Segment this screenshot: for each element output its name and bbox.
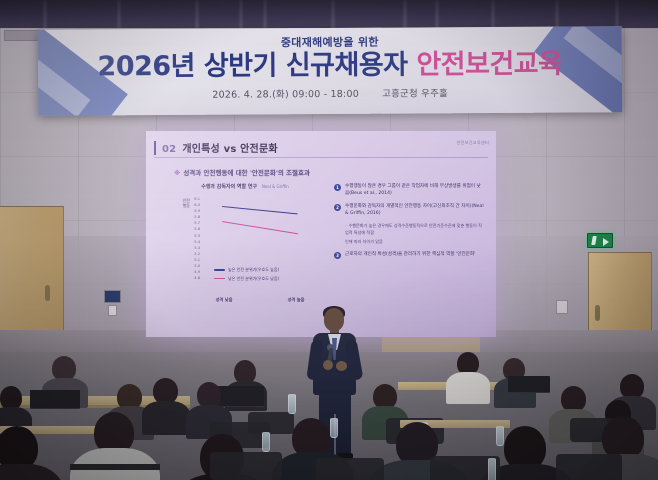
event-banner: 중대재해예방을 위한 2026년 상반기 신규채용자 안전보건교육 2026. … — [38, 26, 623, 116]
banner-title-part-2: 신규채용자 — [286, 49, 417, 81]
sub-bullet-dash-icon: - — [345, 223, 346, 228]
slide-sub-bullet: 인에 따라 차이가 있음 — [345, 239, 484, 246]
water-bottle — [330, 418, 338, 438]
bullet-text: 수행행동이 많은 경우 그룹이 같은 작업자에 비해 부상발생률 위험이 낮음(… — [345, 183, 484, 197]
photo-screenshot: 중대재해예방을 위한 2026년 상반기 신규채용자 안전보건교육 2026. … — [0, 0, 658, 480]
exit-arrow-glyph — [603, 238, 609, 246]
water-bottle — [496, 426, 504, 446]
chair — [316, 458, 384, 480]
banner-venue: 고흥군청 우주홀 — [382, 89, 448, 100]
water-bottle — [288, 394, 296, 414]
bullet-marker-icon: 2 — [334, 204, 341, 211]
chair — [210, 452, 282, 480]
chair — [556, 454, 622, 480]
bullet-marker-icon: 3 — [334, 252, 341, 259]
legend-label-low: 낮은 안전 분위기(우호도 낮음) — [228, 276, 279, 282]
chart-title-text: 수행과 감독자의 역할 연구 — [201, 184, 257, 190]
slide-bullet-list: 1 수행행동이 많은 경우 그룹이 같은 작업자에 비해 부상발생률 위험이 낮… — [334, 183, 484, 265]
chart-legend-item-low: 낮은 안전 분위기(우호도 낮음) — [214, 276, 279, 282]
slide-sub-bullet: -수행문화가 높은 경우에도 성격수준행동적으로 안전기준수준에 맞춘 행동이 … — [345, 223, 484, 236]
slide-title-accent — [154, 141, 156, 155]
audience — [0, 330, 658, 480]
chart-xtick-1: 성격 높음 — [288, 297, 305, 303]
ceiling-vent — [4, 30, 40, 41]
slide-corner-logo: 안전보건교육센터 — [457, 140, 489, 146]
banner-date: 2026. 4. 28.(화) 09:00 - 18:00 — [212, 89, 359, 101]
water-bottle — [262, 432, 270, 452]
slide-subtitle-marker: ※ — [174, 169, 180, 177]
legend-swatch-low — [214, 278, 225, 280]
bullet-text: 근로자의 개인적 특성(성격)을 관리하기 위한 핵심적 역할 '안전문화' — [345, 251, 475, 259]
sub-bullet-text: 수행문화가 높은 경우에도 성격수준행동적으로 안전기준수준에 맞춘 행동이 직… — [345, 223, 482, 235]
chart-series-high — [222, 206, 298, 215]
slide-title: 02개인특성 vs 안전문화 — [162, 140, 278, 155]
bullet-text: 수행문화와 감독자의 개별적인 안전행동 차이(고신뢰조직 간 차이)(Neal… — [345, 203, 484, 217]
chart-legend-item-high: 높은 안전 분위기(우호도 높음) — [214, 267, 279, 273]
slide-subtitle: ※성격과 안전행동에 대한 '안전문화'의 조절효과 — [174, 167, 310, 177]
laptop — [214, 386, 264, 406]
chart-series-low — [222, 221, 298, 235]
slide-bullet-item: 2 수행문화와 감독자의 개별적인 안전행동 차이(고신뢰조직 간 차이)(Ne… — [334, 203, 484, 217]
water-bottle — [488, 458, 496, 480]
slide-title-text: 개인특성 vs 안전문화 — [182, 144, 277, 155]
slide-bullet-item: 1 수행행동이 많은 경우 그룹이 같은 작업자에 비해 부상발생률 위험이 낮… — [334, 183, 484, 197]
wall-outlet — [556, 300, 568, 314]
legend-swatch-high — [214, 269, 225, 271]
banner-meta: 2026. 4. 28.(화) 09:00 - 18:00 고흥군청 우주홀 — [38, 85, 622, 103]
slide-chart: 수행과 감독자의 역할 연구 Neal & Griffin 안전행동 6.1 6… — [170, 183, 320, 311]
wall-control-panel[interactable] — [104, 290, 121, 303]
banner-title: 2026년 상반기 신규채용자 안전보건교육 — [38, 50, 622, 82]
laptop — [508, 376, 550, 392]
projection-screen: 02개인특성 vs 안전문화 안전보건교육센터 ※성격과 안전행동에 대한 '안… — [146, 131, 496, 337]
chart-xtick-0: 성격 낮음 — [216, 297, 233, 303]
exit-sign-icon — [587, 233, 613, 248]
laptop — [30, 390, 80, 408]
wall-switch[interactable] — [108, 305, 117, 316]
bullet-marker-icon: 1 — [334, 184, 341, 191]
slide-section-number: 02 — [162, 144, 176, 155]
slide-divider — [154, 157, 488, 158]
slide-subtitle-text: 성격과 안전행동에 대한 '안전문화'의 조절효과 — [183, 169, 310, 177]
slide-bullet-item: 3 근로자의 개인적 특성(성격)을 관리하기 위한 핵심적 역할 '안전문화' — [334, 251, 484, 259]
chart-y-axis-label: 안전행동 — [170, 199, 190, 208]
banner-title-part-3: 안전보건교육 — [416, 49, 562, 81]
legend-label-high: 높은 안전 분위기(우호도 높음) — [228, 267, 279, 273]
chart-source: Neal & Griffin — [262, 184, 289, 189]
sub-bullet-text-2: 인에 따라 차이가 있음 — [345, 239, 383, 244]
chart-title: 수행과 감독자의 역할 연구 Neal & Griffin — [170, 183, 320, 190]
chair — [248, 412, 294, 434]
chart-legend: 높은 안전 분위기(우호도 높음) 낮은 안전 분위기(우호도 낮음) — [214, 267, 279, 284]
banner-title-part-1: 2026년 상반기 — [97, 50, 285, 82]
exit-running-man-glyph — [591, 236, 597, 245]
